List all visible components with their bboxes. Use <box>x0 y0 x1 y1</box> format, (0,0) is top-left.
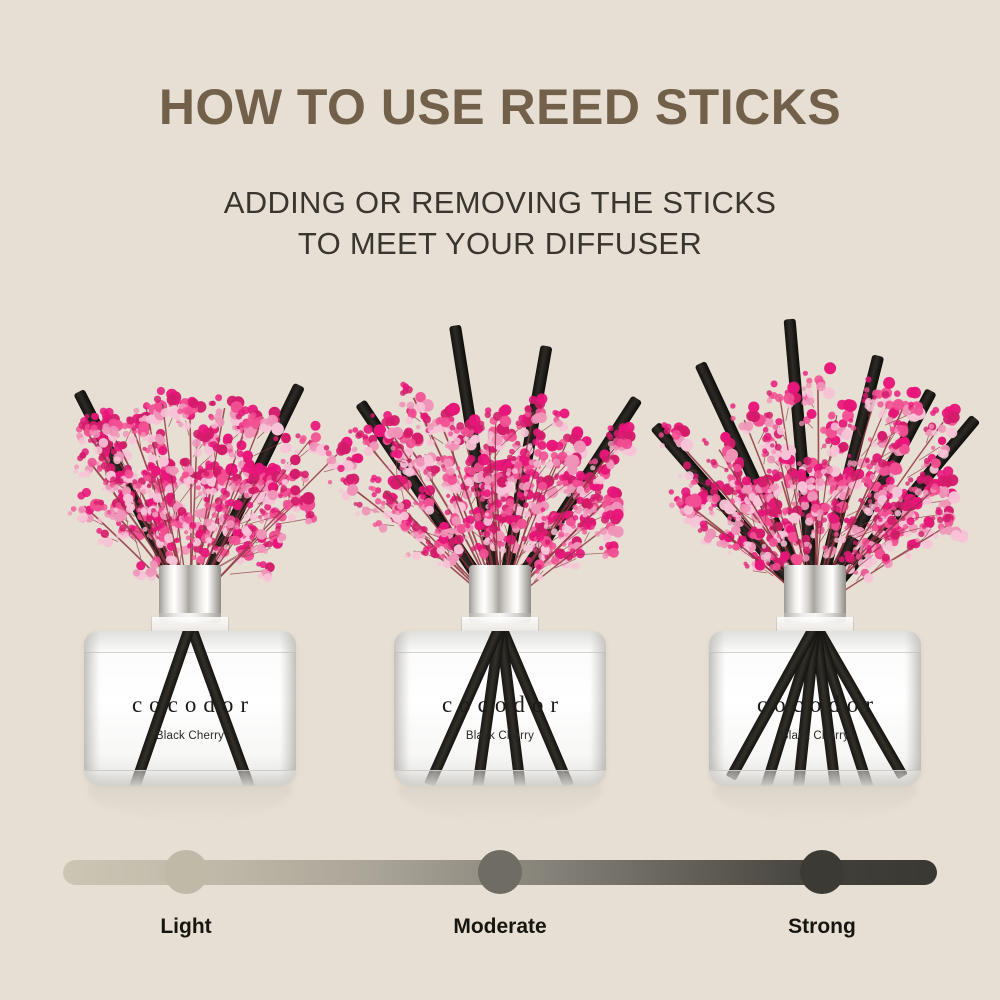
brand-label: cocodor <box>394 692 606 718</box>
glass-bottle-body: cocodorBlack Cherry <box>84 631 296 786</box>
slider-label-moderate: Moderate <box>453 915 546 939</box>
glass-base <box>84 770 296 786</box>
slider-label-strong: Strong <box>788 915 856 939</box>
diffuser-bottle: cocodorBlack Cherry <box>84 565 296 805</box>
glass-bottle-body: cocodorBlack Cherry <box>394 631 606 786</box>
glass-base <box>709 770 921 786</box>
scent-label: Black Cherry <box>709 730 921 742</box>
bottle-cap <box>784 565 846 617</box>
scent-label: Black Cherry <box>394 730 606 742</box>
slider-knob-moderate[interactable] <box>478 850 522 894</box>
bottle-reflection <box>87 787 293 821</box>
slider-knob-strong[interactable] <box>800 850 844 894</box>
glass-bottle-body: cocodorBlack Cherry <box>709 631 921 786</box>
infographic-canvas: HOW TO USE REED STICKS ADDING OR REMOVIN… <box>0 0 1000 1000</box>
glass-base <box>394 770 606 786</box>
scent-label: Black Cherry <box>84 730 296 742</box>
brand-label: cocodor <box>84 692 296 718</box>
diffuser-bottle: cocodorBlack Cherry <box>709 565 921 805</box>
bottle-cap <box>159 565 221 617</box>
brand-label: cocodor <box>709 692 921 718</box>
bottle-reflection <box>712 787 918 821</box>
bottle-cap <box>469 565 531 617</box>
bottle-reflection <box>397 787 603 821</box>
slider-knob-light[interactable] <box>164 850 208 894</box>
diffuser-bottle: cocodorBlack Cherry <box>394 565 606 805</box>
slider-label-light: Light <box>160 915 211 939</box>
